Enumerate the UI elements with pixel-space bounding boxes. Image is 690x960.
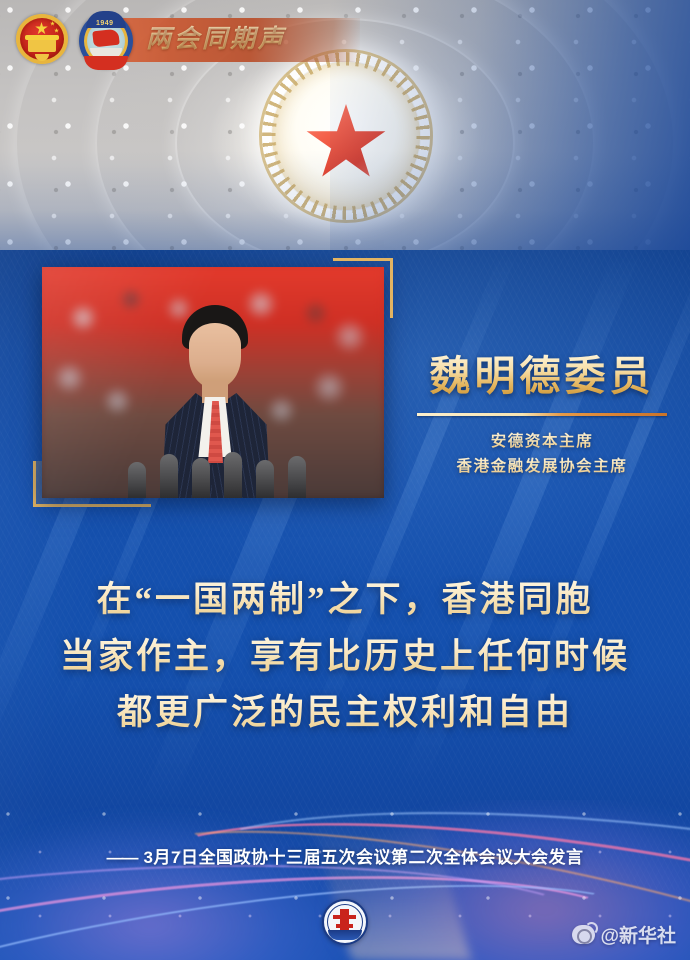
weibo-handle: @新华社 xyxy=(600,921,676,948)
great-hall-logo-icon xyxy=(322,899,368,945)
speaker-name-block: 魏明德委员 安德资本主席 香港金融发展协会主席 xyxy=(414,352,670,480)
speaker-title-1: 安德资本主席 xyxy=(414,429,670,454)
caption-dash: —— xyxy=(107,848,137,867)
cppcc-emblem-icon: 1949 xyxy=(76,10,136,72)
quote-line-2: 当家作主，享有比历史上任何时候 xyxy=(0,629,690,686)
banner-title: 两会同期声 xyxy=(146,22,306,58)
caption-text: 3月7日全国政协十三届五次会议第二次全体会议大会发言 xyxy=(144,848,584,867)
national-emblem-icon xyxy=(14,10,70,68)
quote-line-3: 都更广泛的民主权利和自由 xyxy=(0,685,690,742)
portrait-frame xyxy=(42,267,384,498)
poster-root: 1949 两会同期声 xyxy=(0,0,690,960)
quote-line-1: 在“一国两制”之下，香港同胞 xyxy=(0,572,690,629)
cppcc-emblem-year: 1949 xyxy=(96,20,114,27)
header-bar: 1949 两会同期声 xyxy=(0,0,360,80)
speaker-title-2: 香港金融发展协会主席 xyxy=(414,454,670,479)
portrait-gold-corner-top-right xyxy=(333,258,393,318)
quote-block: 在“一国两制”之下，香港同胞 当家作主，享有比历史上任何时候 都更广泛的民主权利… xyxy=(0,572,690,742)
source-caption: ——3月7日全国政协十三届五次会议第二次全体会议大会发言 xyxy=(0,843,690,868)
speaker-name: 魏明德委员 xyxy=(414,352,670,400)
weibo-watermark: @新华社 xyxy=(572,921,676,948)
weibo-icon xyxy=(572,925,595,944)
speaker-titles: 安德资本主席 香港金融发展协会主席 xyxy=(414,429,670,479)
name-divider xyxy=(417,413,667,416)
